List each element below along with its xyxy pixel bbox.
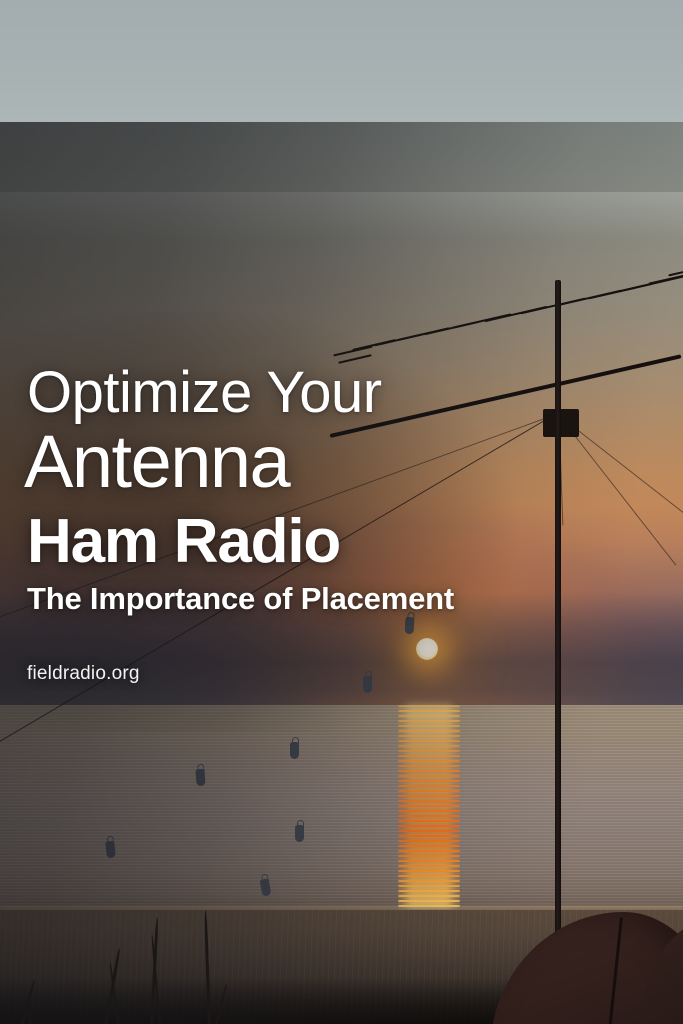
- guy-wire-marker: [295, 825, 304, 842]
- headline-subtitle: The Importance of Placement: [27, 580, 587, 618]
- sun-disc: [416, 638, 438, 660]
- sun-glitter-path: [398, 705, 460, 910]
- pin-graphic: Optimize Your Antenna Ham Radio The Impo…: [0, 0, 683, 1024]
- guy-wire-marker: [405, 617, 415, 634]
- guy-wire-marker: [105, 841, 116, 859]
- guy-wire-marker: [290, 742, 299, 759]
- sea-texture: [0, 705, 683, 910]
- top-sky-band: [0, 0, 683, 122]
- headline-line-2: Antenna: [24, 424, 587, 500]
- headline-line-3: Ham Radio: [27, 508, 587, 576]
- site-url[interactable]: fieldradio.org: [27, 663, 140, 685]
- guy-wire-marker: [195, 769, 205, 787]
- guy-wire-marker: [363, 676, 372, 693]
- headline-block: Optimize Your Antenna Ham Radio The Impo…: [27, 362, 587, 618]
- headline-line-1: Optimize Your: [27, 362, 587, 424]
